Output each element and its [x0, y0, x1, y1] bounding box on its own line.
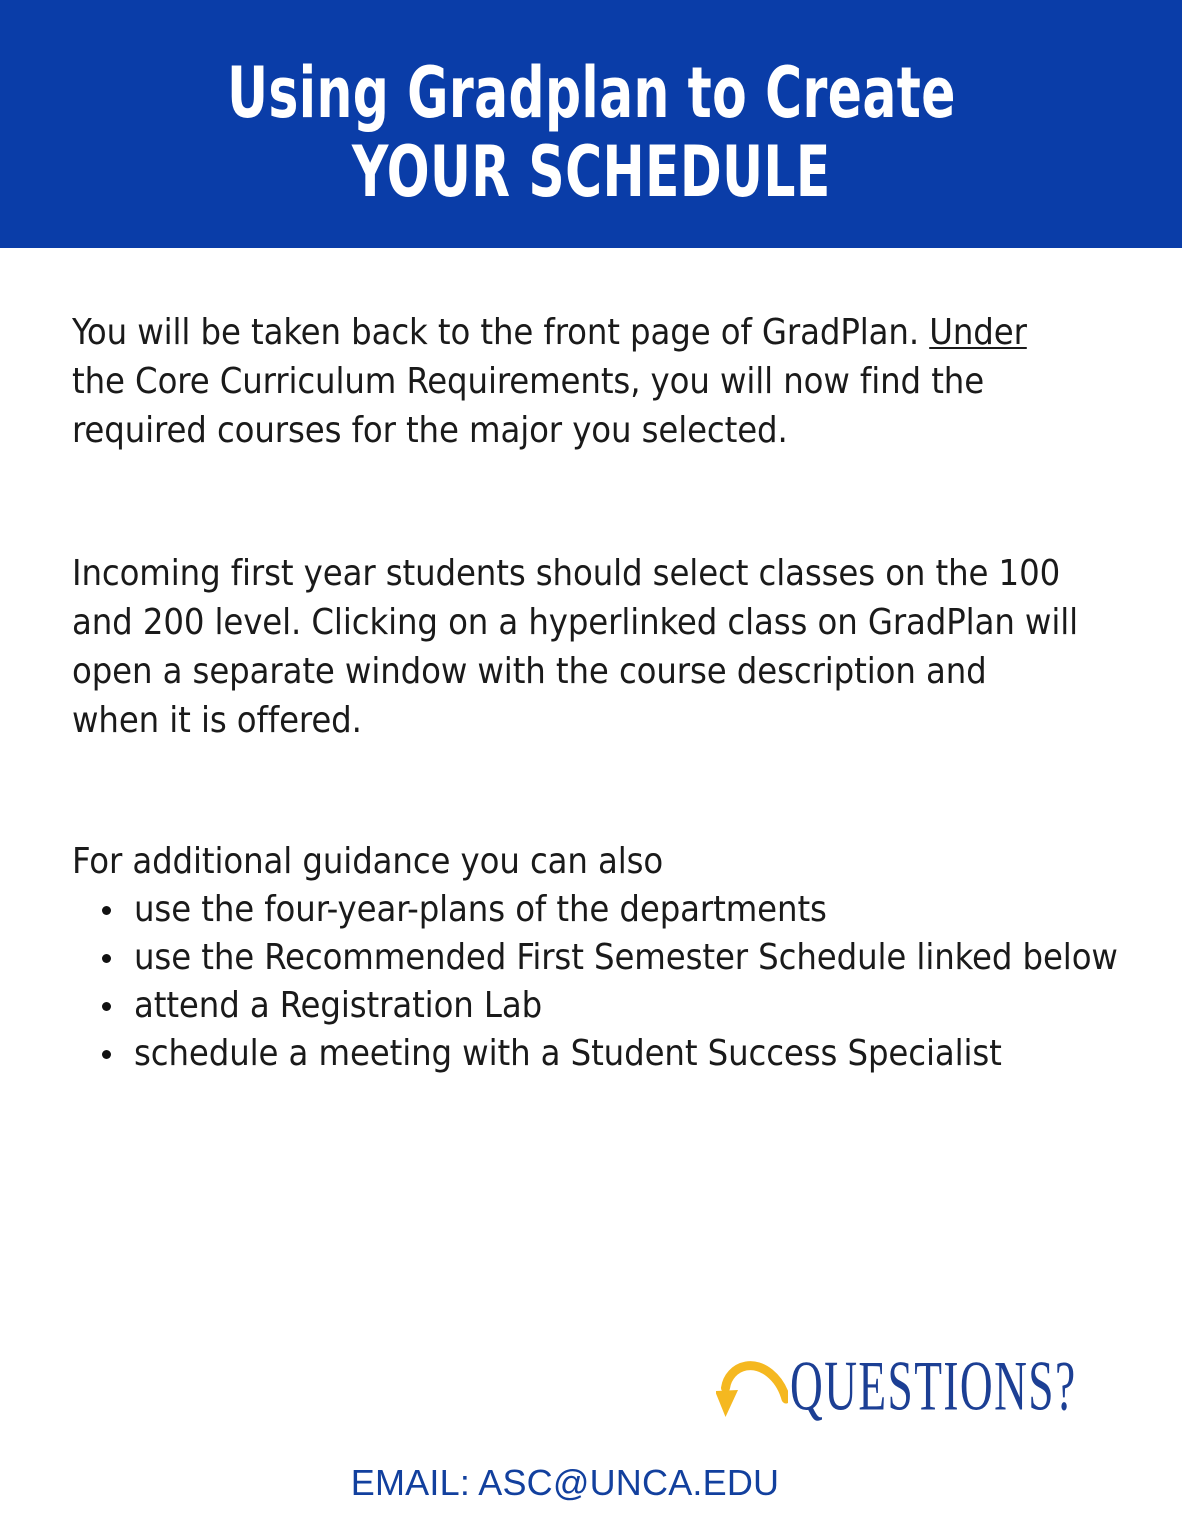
list-item-label: attend a Registration Lab [134, 985, 542, 1026]
list-item: schedule a meeting with a Student Succes… [72, 1030, 1132, 1078]
paragraph-1-emphasis: Under [929, 312, 1027, 353]
guidance-section: For additional guidance you can also use… [72, 837, 1132, 1078]
page-title-line-1: Using Gradplan to Create [227, 58, 956, 129]
paragraph-1-rest: the Core Curriculum Requirements, you wi… [72, 361, 984, 451]
guidance-intro: For additional guidance you can also [72, 837, 1132, 886]
paragraph-1-lead: You will be taken back to the front page… [72, 312, 929, 353]
list-item: use the four-year-plans of the departmen… [72, 886, 1132, 934]
list-item: use the Recommended First Semester Sched… [72, 934, 1132, 982]
guidance-list: use the four-year-plans of the departmen… [72, 886, 1132, 1078]
list-item-label: schedule a meeting with a Student Succes… [134, 1033, 1002, 1074]
bullet-dot-icon [102, 1050, 111, 1059]
contact-email[interactable]: EMAIL: ASC@UNCA.EDU [0, 1462, 1130, 1504]
list-item-label: use the Recommended First Semester Sched… [134, 937, 1118, 978]
paragraph-front-page: You will be taken back to the front page… [72, 308, 1082, 455]
header-banner: Using Gradplan to Create YOUR SCHEDULE [0, 0, 1182, 248]
questions-callout: QUESTIONS? [716, 1340, 1076, 1432]
bullet-dot-icon [102, 906, 111, 915]
list-item-label: use the four-year-plans of the departmen… [134, 889, 827, 930]
bullet-dot-icon [102, 1002, 111, 1011]
questions-label: QUESTIONS? [790, 1351, 1077, 1422]
list-item: attend a Registration Lab [72, 982, 1132, 1030]
poster-page: Using Gradplan to Create YOUR SCHEDULE Y… [0, 0, 1187, 1536]
bullet-dot-icon [102, 954, 111, 963]
paragraph-course-levels: Incoming first year students should sele… [72, 549, 1082, 745]
page-title-line-2: YOUR SCHEDULE [352, 137, 831, 208]
curved-arrow-down-left-icon [716, 1355, 788, 1425]
